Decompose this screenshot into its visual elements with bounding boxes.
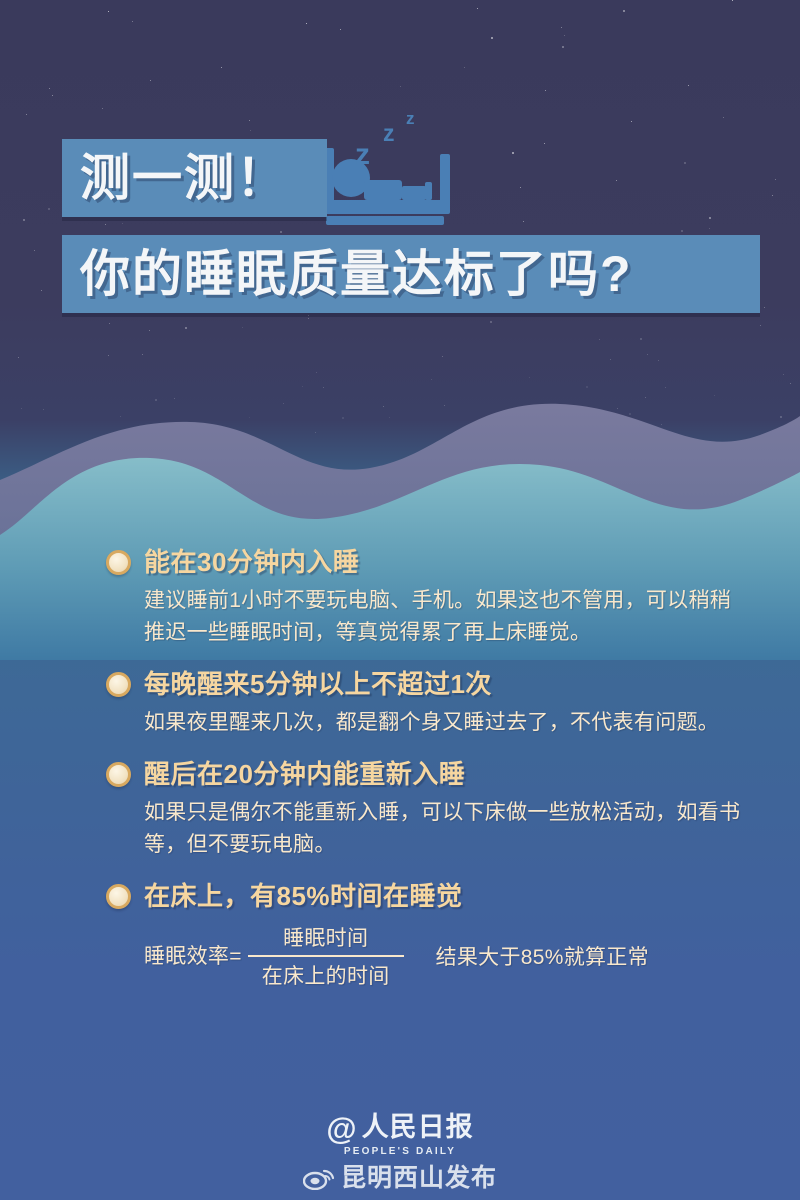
star-icon [520,187,521,188]
formula-numerator: 睡眠时间 [269,922,382,955]
bullet-circle-icon [106,672,131,697]
title-banner-line1: 测一测！ [62,139,327,217]
star-icon [764,307,765,308]
bullet-circle-icon [106,762,131,787]
star-icon [249,120,250,121]
star-icon [221,67,222,68]
star-icon [681,230,683,232]
weibo-watermark: 昆明西山发布 [0,1166,800,1191]
logo-english-name: PEOPLE'S DAILY [0,1146,800,1157]
weibo-eye-icon [303,1168,337,1190]
item-title: 在床上，有85%时间在睡觉 [144,881,463,911]
star-icon [490,321,492,323]
bullet-circle-icon [106,884,131,909]
star-icon [709,228,710,229]
star-icon [564,35,565,36]
item-body: 建议睡前1小时不要玩电脑、手机。如果这也不管用，可以稍稍推迟一些睡眠时间，等真觉… [144,585,744,649]
star-icon [18,357,19,358]
formula-fraction: 睡眠时间 在床上的时间 [248,922,404,990]
star-icon [400,86,401,87]
star-icon [34,250,35,251]
star-icon [49,88,50,89]
star-icon [775,179,776,180]
sleep-checklist: 能在30分钟内入睡 建议睡前1小时不要玩电脑、手机。如果这也不管用，可以稍稍推迟… [0,546,800,1009]
star-icon [150,80,151,81]
star-icon [544,143,545,144]
item-title: 醒后在20分钟内能重新入睡 [144,759,465,789]
item-body: 如果夜里醒来几次，都是翻个身又睡过去了，不代表有问题。 [144,707,744,739]
star-icon [306,23,307,24]
formula-note: 结果大于85%就算正常 [436,941,649,971]
star-icon [760,325,761,326]
star-icon [477,8,478,9]
sleeping-person-in-bed-icon [318,112,493,237]
list-item: 能在30分钟内入睡 建议睡前1小时不要玩电脑、手机。如果这也不管用，可以稍稍推迟… [0,546,800,649]
sleep-quality-poster: z z z 测一测！ 你的睡眠质量达标了吗? 能在30分钟内入睡 建议睡前1小时… [0,0,800,1200]
star-icon [599,339,600,340]
title-line1-text: 测一测！ [80,153,288,203]
footer: @ 人民日报 PEOPLE'S DAILY 昆明西山发布 [0,1112,800,1191]
star-icon [464,67,465,68]
star-icon [709,217,711,219]
star-icon [108,355,109,356]
star-icon [242,327,243,328]
at-symbol-icon: @ [326,1113,356,1144]
star-icon [26,114,27,115]
star-icon [122,223,123,224]
star-icon [545,90,546,91]
star-icon [631,121,632,122]
list-item: 在床上，有85%时间在睡觉 睡眠效率= 睡眠时间 在床上的时间 结果大于85%就… [0,880,800,990]
item-title: 能在30分钟内入睡 [144,547,359,577]
formula-denominator: 在床上的时间 [248,957,404,990]
item-title: 每晚醒来5分钟以上不超过1次 [144,669,492,699]
star-icon [132,21,133,22]
star-icon [688,85,689,86]
star-icon [52,95,53,96]
star-icon [308,318,309,319]
star-icon [41,290,42,291]
star-icon [491,37,493,39]
sleep-efficiency-formula: 睡眠效率= 睡眠时间 在床上的时间 结果大于85%就算正常 [144,922,744,990]
title-banner-line2: 你的睡眠质量达标了吗? [62,235,760,313]
list-item: 醒后在20分钟内能重新入睡 如果只是偶尔不能重新入睡，可以下床做一些放松活动，如… [0,758,800,861]
star-icon [109,323,110,324]
star-icon [108,11,109,12]
star-icon [23,219,25,221]
star-icon [280,231,282,233]
list-item: 每晚醒来5分钟以上不超过1次 如果夜里醒来几次，都是翻个身又睡过去了，不代表有问… [0,668,800,739]
star-icon [561,27,562,28]
star-icon [523,221,524,222]
star-icon [102,108,103,109]
star-icon [723,117,724,118]
star-icon [340,29,341,30]
logo-chinese-name: 人民日报 [362,1114,474,1141]
star-icon [684,162,686,164]
star-icon [185,327,187,329]
star-icon [512,152,514,154]
star-icon [142,354,143,355]
star-icon [772,195,773,196]
star-icon [308,315,309,316]
star-icon [640,338,642,340]
star-icon [149,330,150,331]
star-icon [616,180,617,181]
star-icon [732,0,733,1]
star-icon [562,46,564,48]
star-icon [647,354,648,355]
star-icon [442,356,443,357]
star-icon [105,224,106,225]
formula-label: 睡眠效率= [144,940,242,972]
bullet-circle-icon [106,550,131,575]
star-icon [250,130,251,131]
zzz-letter: z [355,140,370,170]
item-body: 如果只是偶尔不能重新入睡，可以下床做一些放松活动，如看书等，但不要玩电脑。 [144,797,744,861]
zzz-letter: z [383,122,395,145]
star-icon [623,10,625,12]
watermark-text: 昆明西山发布 [341,1166,497,1191]
peoples-daily-logo: @ 人民日报 PEOPLE'S DAILY [0,1112,800,1157]
zzz-letter: z [406,110,415,127]
title-line2-text: 你的睡眠质量达标了吗? [80,249,633,299]
star-icon [48,208,50,210]
